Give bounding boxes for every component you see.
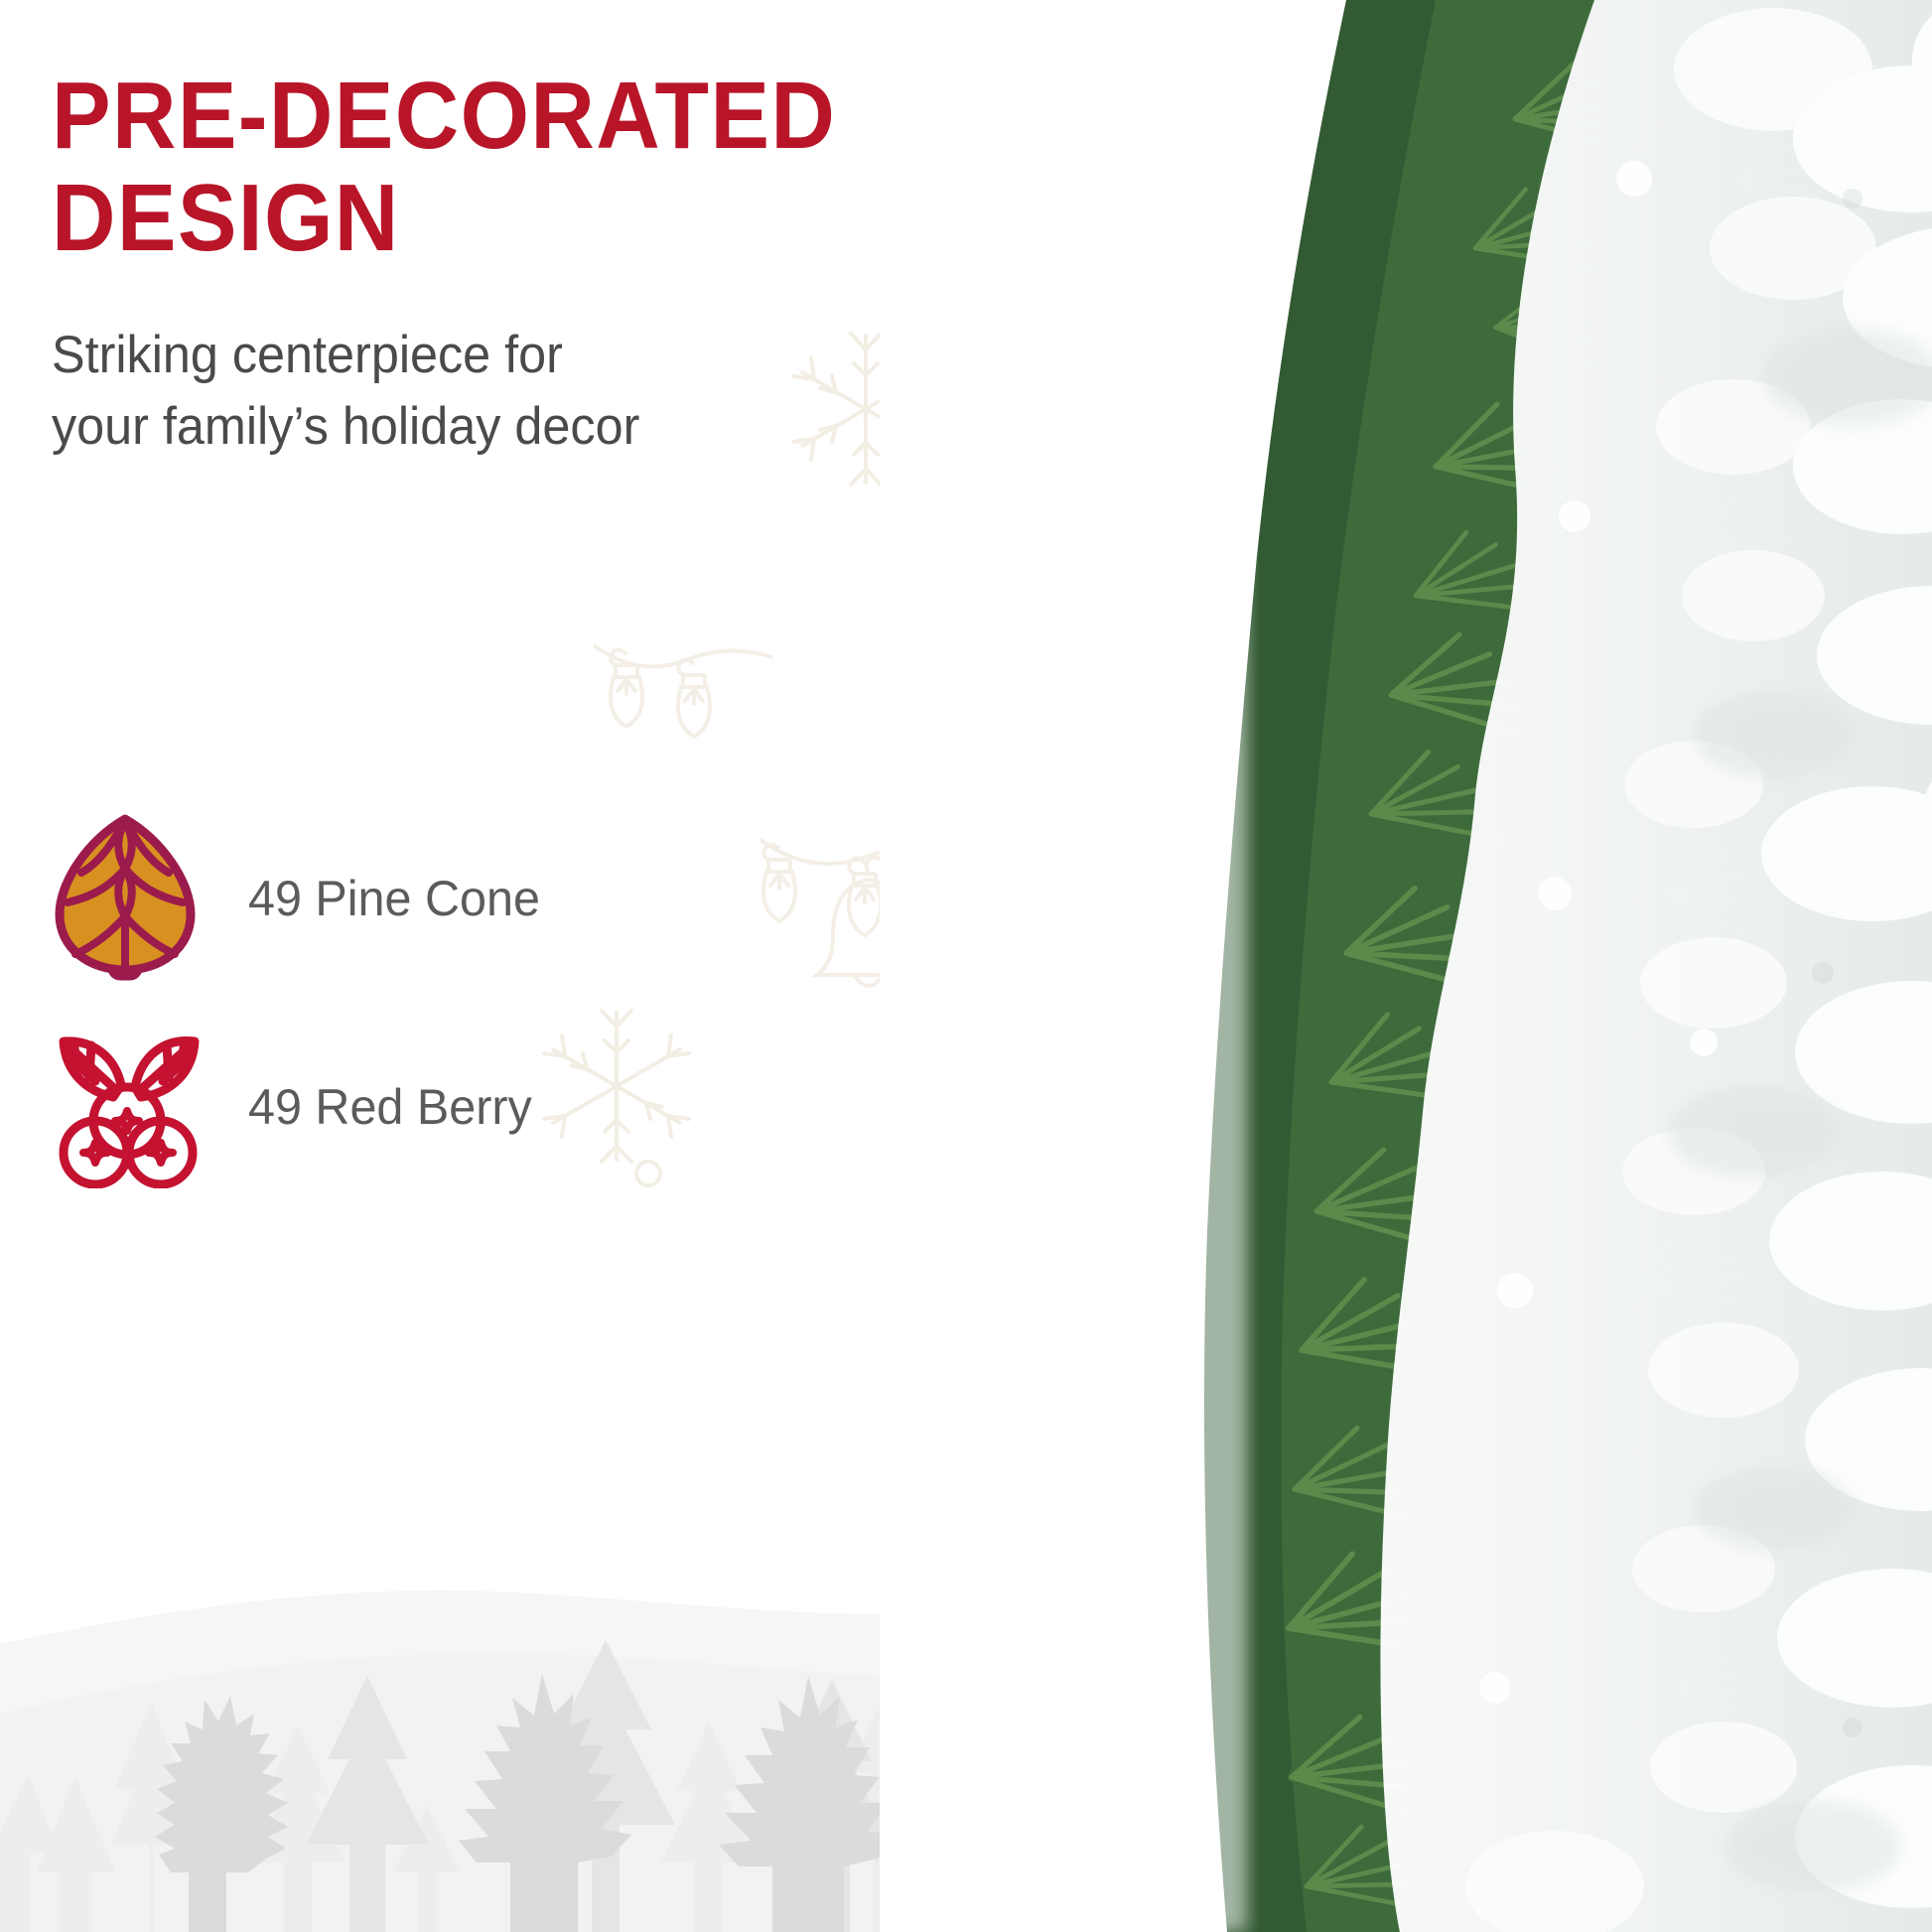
subtitle: Striking centerpiece for your family’s h…	[52, 320, 768, 462]
feature-label-pine-cone: 49 Pine Cone	[248, 870, 540, 927]
pine-cone-icon	[52, 811, 210, 986]
feature-item-red-berry: 49 Red Berry	[52, 1003, 806, 1211]
feature-item-pine-cone: 49 Pine Cone	[52, 794, 806, 1003]
text-column: PRE-DECORATED DESIGN Striking centerpiec…	[0, 0, 1003, 1932]
red-berry-icon	[52, 1026, 210, 1188]
marketing-banner: PRE-DECORATED DESIGN Striking centerpiec…	[0, 0, 1932, 1932]
feature-list: 49 Pine Cone	[52, 794, 806, 1211]
flocked-christmas-tree-photo	[880, 0, 1932, 1932]
feature-label-red-berry: 49 Red Berry	[248, 1078, 532, 1136]
page-title: PRE-DECORATED DESIGN	[52, 66, 910, 269]
